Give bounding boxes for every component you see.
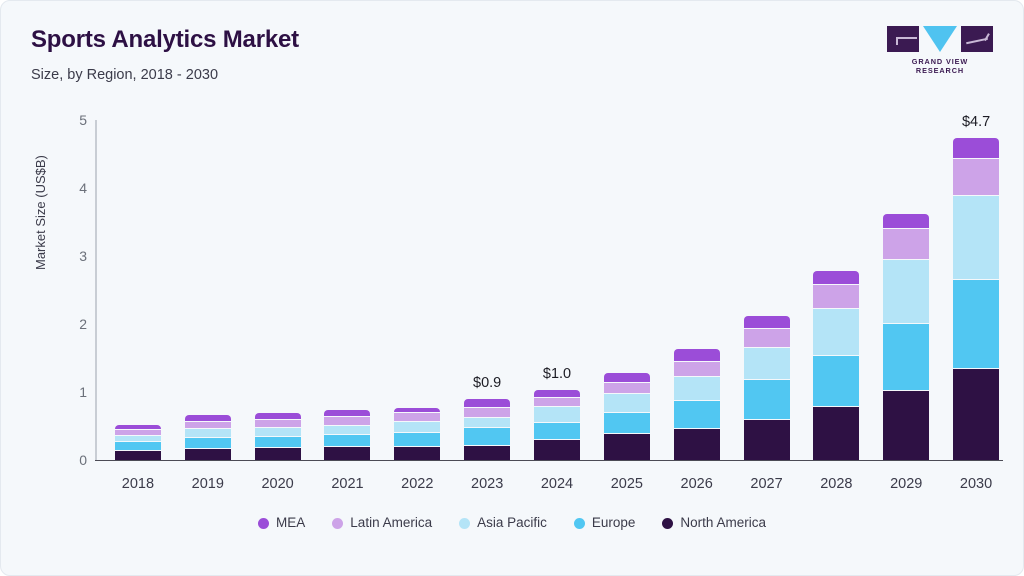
legend-label: MEA	[276, 516, 305, 530]
bar-segment[interactable]	[464, 445, 510, 460]
legend-color-dot-icon	[662, 518, 673, 529]
stacked-bar[interactable]	[674, 349, 720, 460]
bar-segment[interactable]	[744, 316, 790, 328]
bar-segment[interactable]	[674, 400, 720, 428]
stacked-bar[interactable]	[324, 410, 370, 460]
x-tick-label: 2023	[471, 476, 503, 492]
bar-segment[interactable]	[534, 439, 580, 460]
x-tick-label: 2019	[192, 476, 224, 492]
bar-group: 2022	[394, 120, 440, 460]
bar-segment[interactable]	[534, 397, 580, 406]
bar-segment[interactable]	[115, 425, 161, 429]
page-title: Sports Analytics Market	[31, 25, 299, 55]
stacked-bar[interactable]	[534, 390, 580, 460]
y-tick-label: 1	[47, 385, 87, 399]
bar-segment[interactable]	[394, 412, 440, 421]
legend-label: North America	[680, 516, 766, 530]
logo-triangle-icon	[923, 26, 957, 52]
logo-marks	[887, 26, 993, 52]
bar-group: 2018	[115, 120, 161, 460]
legend-label: Europe	[592, 516, 636, 530]
bar-segment[interactable]	[464, 417, 510, 427]
stacked-bar[interactable]	[394, 408, 440, 460]
bar-segment[interactable]	[813, 355, 859, 407]
legend-item[interactable]: MEA	[258, 516, 305, 530]
y-axis-title: Market Size (US$B)	[33, 155, 48, 270]
logo-right-block-icon	[961, 26, 993, 52]
stacked-bar[interactable]	[185, 415, 231, 460]
bar-segment[interactable]	[744, 328, 790, 347]
logo-left-block-icon	[887, 26, 919, 52]
stacked-bar[interactable]	[813, 271, 859, 460]
bar-group: 2026	[674, 120, 720, 460]
y-tick-label: 5	[47, 113, 87, 127]
bar-segment[interactable]	[534, 390, 580, 397]
bar-segment[interactable]	[604, 393, 650, 412]
grand-view-research-logo: GRAND VIEW RESEARCH	[887, 26, 993, 75]
bar-segment[interactable]	[604, 412, 650, 433]
bar-value-label: $4.7	[962, 114, 990, 130]
chart-page: Sports Analytics Market Size, by Region,…	[0, 0, 1024, 576]
bar-segment[interactable]	[255, 413, 301, 418]
x-tick-label: 2027	[750, 476, 782, 492]
y-tick-label: 3	[47, 249, 87, 263]
y-axis-line	[95, 120, 97, 460]
bar-segment[interactable]	[185, 415, 231, 420]
legend-color-dot-icon	[459, 518, 470, 529]
x-tick-label: 2020	[261, 476, 293, 492]
bar-segment[interactable]	[674, 361, 720, 376]
bar-segment[interactable]	[324, 446, 370, 460]
x-tick-label: 2021	[331, 476, 363, 492]
bar-segment[interactable]	[255, 419, 301, 427]
bar-segment[interactable]	[953, 195, 999, 279]
stacked-bar[interactable]	[115, 425, 161, 460]
bar-group: 2027	[744, 120, 790, 460]
bar-segment[interactable]	[115, 435, 161, 441]
stacked-bar[interactable]	[255, 413, 301, 460]
bar-value-label: $1.0	[543, 366, 571, 382]
y-tick-label: 2	[47, 317, 87, 331]
legend-color-dot-icon	[332, 518, 343, 529]
x-tick-label: 2018	[122, 476, 154, 492]
plot-area: Market Size (US$B) 012345 20182019202020…	[95, 120, 1003, 460]
legend-label: Latin America	[350, 516, 432, 530]
bar-segment[interactable]	[883, 323, 929, 390]
legend-item[interactable]: Latin America	[332, 516, 432, 530]
bar-group: 2025	[604, 120, 650, 460]
y-tick-label: 0	[47, 453, 87, 467]
bar-segment[interactable]	[394, 432, 440, 446]
bar-segment[interactable]	[674, 428, 720, 460]
chart-subtitle: Size, by Region, 2018 - 2030	[31, 66, 299, 84]
bar-segment[interactable]	[813, 308, 859, 354]
bar-segment[interactable]	[464, 407, 510, 417]
y-tick-label: 4	[47, 181, 87, 195]
bar-segment[interactable]	[953, 368, 999, 460]
bar-segment[interactable]	[185, 428, 231, 437]
legend-color-dot-icon	[574, 518, 585, 529]
bar-segment[interactable]	[185, 448, 231, 460]
bar-group: $1.02024	[534, 120, 580, 460]
bar-segment[interactable]	[744, 347, 790, 379]
legend-item[interactable]: Asia Pacific	[459, 516, 547, 530]
bar-segment[interactable]	[255, 447, 301, 460]
bar-segment[interactable]	[394, 446, 440, 460]
stacked-bar[interactable]	[744, 316, 790, 460]
bar-segment[interactable]	[953, 279, 999, 368]
bar-segment[interactable]	[813, 271, 859, 284]
bar-group: 2020	[255, 120, 301, 460]
bar-group: 2019	[185, 120, 231, 460]
bar-segment[interactable]	[953, 158, 999, 195]
bar-segment[interactable]	[394, 421, 440, 432]
x-tick-label: 2029	[890, 476, 922, 492]
bar-segment[interactable]	[464, 427, 510, 445]
bar-segment[interactable]	[185, 437, 231, 448]
legend-item[interactable]: North America	[662, 516, 766, 530]
bar-segment[interactable]	[813, 284, 859, 308]
bar-segment[interactable]	[744, 419, 790, 460]
bar-group: 2021	[324, 120, 370, 460]
bar-segment[interactable]	[115, 429, 161, 434]
bar-segment[interactable]	[604, 433, 650, 460]
stacked-bar[interactable]	[883, 214, 929, 460]
bar-segment[interactable]	[255, 436, 301, 448]
bar-segment[interactable]	[604, 373, 650, 382]
bar-segment[interactable]	[115, 450, 161, 460]
bar-segment[interactable]	[883, 390, 929, 460]
bar-segment[interactable]	[953, 138, 999, 158]
bar-segment[interactable]	[744, 379, 790, 419]
x-tick-label: 2025	[611, 476, 643, 492]
bar-segment[interactable]	[324, 434, 370, 446]
bar-segment[interactable]	[534, 422, 580, 439]
chart-legend: MEALatin AmericaAsia PacificEuropeNorth …	[1, 516, 1023, 530]
bar-segment[interactable]	[883, 214, 929, 228]
stacked-bar[interactable]	[604, 373, 650, 460]
bar-group: $0.92023	[464, 120, 510, 460]
chart-header: Sports Analytics Market Size, by Region,…	[31, 25, 299, 84]
bar-segment[interactable]	[883, 259, 929, 323]
bar-value-label: $0.9	[473, 375, 501, 391]
bar-segment[interactable]	[324, 410, 370, 416]
bar-group: $4.72030	[953, 120, 999, 460]
logo-text: GRAND VIEW RESEARCH	[887, 57, 993, 75]
bar-group: 2029	[883, 120, 929, 460]
bar-segment[interactable]	[255, 427, 301, 436]
bar-segment[interactable]	[674, 376, 720, 400]
bar-segment[interactable]	[394, 408, 440, 412]
bar-segment[interactable]	[324, 416, 370, 424]
x-tick-label: 2022	[401, 476, 433, 492]
x-tick-label: 2026	[681, 476, 713, 492]
legend-item[interactable]: Europe	[574, 516, 636, 530]
bar-segment[interactable]	[464, 399, 510, 407]
bar-segment[interactable]	[604, 382, 650, 394]
legend-label: Asia Pacific	[477, 516, 547, 530]
bar-segment[interactable]	[534, 406, 580, 422]
bar-segment[interactable]	[324, 425, 370, 435]
bar-segment[interactable]	[674, 349, 720, 361]
x-tick-label: 2024	[541, 476, 573, 492]
bar-segment[interactable]	[185, 421, 231, 428]
bar-group: 2028	[813, 120, 859, 460]
bar-segment[interactable]	[813, 406, 859, 460]
stacked-bar[interactable]	[953, 138, 999, 460]
stacked-bar[interactable]	[464, 399, 510, 460]
x-tick-label: 2028	[820, 476, 852, 492]
bar-segment[interactable]	[883, 228, 929, 259]
x-tick-label: 2030	[960, 476, 992, 492]
bar-segment[interactable]	[115, 441, 161, 450]
legend-color-dot-icon	[258, 518, 269, 529]
